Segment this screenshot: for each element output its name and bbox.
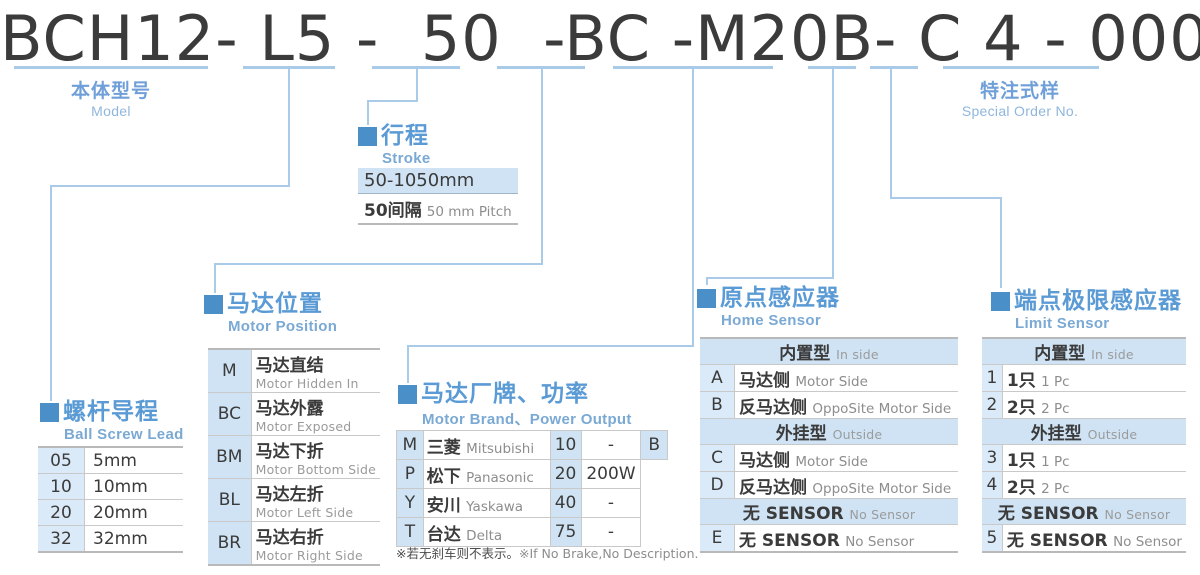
band-cn: 内置型	[779, 344, 830, 364]
power-code: 20	[550, 460, 581, 489]
band-en: No Sensor	[1105, 507, 1171, 522]
stroke-pitch-cn: 50间隔	[364, 201, 422, 221]
desc-en: Motor Right Side	[256, 548, 376, 563]
limit-sensor-desc: 1只 1 Pc	[1002, 365, 1186, 392]
group-title-en: Stroke	[382, 150, 431, 167]
limit-sensor-code: 5	[982, 525, 1002, 553]
table-row: Y 安川 Yaskawa 40 -	[397, 489, 668, 518]
bullet-square-icon	[40, 403, 59, 422]
brand-cn: 松下	[427, 467, 461, 487]
group-heading-motor-position: 马达位置 Motor Position	[204, 284, 337, 335]
section-band: 内置型 In side	[982, 338, 1186, 365]
table-row: D 反马达侧 OppoSite Motor Side	[700, 472, 958, 499]
home-sensor-table: 内置型 In side A 马达侧 Motor Side B 反马达侧 Oppo…	[700, 337, 958, 553]
desc-cn: 马达右折	[256, 523, 376, 548]
lead-code: 32	[38, 526, 85, 553]
power-value: -	[581, 489, 641, 518]
group-title-cn: 马达厂牌、功率	[421, 374, 589, 408]
brand-en: Yaskawa	[466, 499, 523, 515]
limit-sensor-desc: 2只 2 Pc	[1002, 392, 1186, 419]
underline-special-order	[943, 66, 1099, 69]
desc-en: 1 Pc	[1041, 454, 1069, 470]
desc-cn: 1只	[1007, 451, 1036, 471]
limit-sensor-desc: 1只 1 Pc	[1002, 445, 1186, 472]
table-row: C 马达侧 Motor Side	[700, 445, 958, 472]
power-code: 40	[550, 489, 581, 518]
lead-code: 20	[38, 500, 85, 526]
group-title-en: Motor Brand、Power Output	[422, 408, 632, 429]
limit-sensor-code: 3	[982, 445, 1002, 472]
connector-limit-v1	[890, 66, 892, 199]
table-row: BC 马达外露 Motor Exposed	[208, 393, 380, 436]
desc-cn: 2只	[1007, 478, 1036, 498]
desc-en: OppoSite Motor Side	[812, 401, 951, 417]
connector-brand-h	[407, 345, 694, 347]
section-band: 外挂型 Outside	[982, 419, 1186, 445]
table-row: 外挂型 Outside	[700, 419, 958, 445]
desc-cn: 无 SENSOR	[739, 531, 840, 551]
brand-code: Y	[397, 489, 424, 518]
connector-home-v1	[832, 66, 834, 278]
table-row: P 松下 Panasonic 20 200W	[397, 460, 668, 489]
limit-sensor-desc: 无 SENSOR No Sensor	[1002, 525, 1186, 553]
home-sensor-desc: 无 SENSOR No Sensor	[735, 525, 959, 553]
brake-empty	[641, 489, 668, 518]
limit-sensor-code: 2	[982, 392, 1002, 419]
desc-en: 2 Pc	[1041, 481, 1069, 497]
desc-en: Motor Hidden In	[256, 376, 376, 391]
desc-en: Motor Exposed	[256, 419, 376, 434]
desc-en: No Sensor	[1113, 534, 1182, 550]
motor-position-desc: 马达直结 Motor Hidden In	[251, 349, 380, 393]
desc-cn: 反马达侧	[739, 478, 807, 498]
home-sensor-code: A	[700, 365, 735, 392]
desc-cn: 马达侧	[739, 451, 790, 471]
band-cn: 无 SENSOR	[998, 504, 1099, 524]
diagram-canvas: BCH12- L5 - 50 -BC -M20B- C 4 - 0001 本体型…	[0, 0, 1200, 575]
group-heading-motor-brand: 马达厂牌、功率 Motor Brand、Power Output	[398, 374, 632, 429]
stroke-pitch-cell: 50间隔 50 mm Pitch	[358, 194, 518, 225]
table-row: 无 SENSOR No Sensor	[982, 499, 1186, 525]
group-title-en: Limit Sensor	[1015, 315, 1182, 332]
limit-sensor-table: 内置型 In side 1 1只 1 Pc 2 2只 2 Pc	[982, 337, 1186, 553]
home-sensor-desc: 反马达侧 OppoSite Motor Side	[735, 472, 959, 499]
connector-motorpos-h	[214, 263, 543, 265]
table-row: 3 1只 1 Pc	[982, 445, 1186, 472]
group-title-en: Ball Screw Lead	[64, 426, 184, 443]
desc-cn: 马达侧	[739, 371, 790, 391]
home-sensor-code: C	[700, 445, 735, 472]
section-band: 外挂型 Outside	[700, 419, 958, 445]
connector-lead-v1	[288, 66, 290, 186]
limit-sensor-desc: 2只 2 Pc	[1002, 472, 1186, 499]
lead-desc: 10mm	[85, 474, 184, 500]
band-en: No Sensor	[850, 507, 916, 522]
table-row: A 马达侧 Motor Side	[700, 365, 958, 392]
bullet-square-icon	[991, 292, 1010, 311]
home-sensor-code: D	[700, 472, 735, 499]
stroke-table: 50-1050mm 50间隔 50 mm Pitch	[358, 168, 518, 225]
band-en: In side	[836, 347, 879, 362]
section-band: 内置型 In side	[700, 338, 958, 365]
brake-empty	[641, 460, 668, 489]
motor-position-code: BC	[208, 393, 251, 436]
brand-en: Delta	[466, 528, 502, 544]
brand-cn: 台达	[427, 525, 461, 545]
desc-en: OppoSite Motor Side	[812, 481, 951, 497]
connector-lead-h	[50, 185, 290, 187]
lead-desc: 5mm	[85, 447, 184, 474]
group-heading-stroke: 行程 Stroke	[358, 116, 431, 167]
motor-position-desc: 马达下折 Motor Bottom Side	[251, 436, 380, 479]
lead-code: 10	[38, 474, 85, 500]
band-en: In side	[1091, 347, 1134, 362]
bullet-square-icon	[697, 289, 716, 308]
section-band: 无 SENSOR No Sensor	[982, 499, 1186, 525]
table-row: 4 2只 2 Pc	[982, 472, 1186, 499]
connector-limit-v2	[1000, 197, 1002, 288]
brand-cn: 安川	[427, 496, 461, 516]
home-sensor-desc: 反马达侧 OppoSite Motor Side	[735, 392, 959, 419]
group-title-en: Special Order No.	[930, 103, 1110, 119]
table-row: 2 2只 2 Pc	[982, 392, 1186, 419]
group-heading-ball-screw-lead: 螺杆导程 Ball Screw Lead	[40, 392, 184, 443]
desc-en: No Sensor	[845, 534, 914, 550]
part-number: BCH12- L5 - 50 -BC -M20B- C 4 - 0001	[0, 2, 1200, 75]
band-en: Outside	[833, 427, 883, 442]
brand-desc: 安川 Yaskawa	[423, 489, 550, 518]
motor-position-table: M 马达直结 Motor Hidden In BC 马达外露 Motor Exp…	[208, 348, 380, 566]
group-title-cn: 本体型号	[71, 76, 151, 103]
band-cn: 内置型	[1034, 344, 1085, 364]
limit-sensor-code: 1	[982, 365, 1002, 392]
lead-desc: 20mm	[85, 500, 184, 526]
group-heading-model: 本体型号 Model	[14, 76, 208, 119]
group-title-cn: 特注式样	[980, 76, 1060, 103]
power-code: 10	[550, 431, 581, 460]
home-sensor-desc: 马达侧 Motor Side	[735, 365, 959, 392]
connector-brand-v1	[692, 66, 694, 347]
band-cn: 无 SENSOR	[743, 504, 844, 524]
group-title-en: Home Sensor	[721, 312, 840, 329]
bullet-square-icon	[358, 127, 377, 146]
desc-en: 2 Pc	[1041, 401, 1069, 417]
table-row: M 马达直结 Motor Hidden In	[208, 349, 380, 393]
table-row: B 反马达侧 OppoSite Motor Side	[700, 392, 958, 419]
table-row: 50间隔 50 mm Pitch	[358, 194, 518, 225]
connector-motorpos-v1	[541, 66, 543, 265]
underline-model	[14, 66, 208, 69]
underline-limit-sensor	[870, 66, 918, 69]
table-row: 10 10mm	[38, 474, 183, 500]
home-sensor-code: B	[700, 392, 735, 419]
desc-cn: 马达直结	[256, 351, 376, 376]
band-cn: 外挂型	[776, 424, 827, 444]
lead-table-body: 05 5mm 10 10mm 20 20mm 32 32mm	[38, 447, 183, 552]
desc-en: Motor Side	[795, 374, 868, 390]
home-sensor-desc: 马达侧 Motor Side	[735, 445, 959, 472]
desc-cn: 马达外露	[256, 394, 376, 419]
desc-cn: 1只	[1007, 371, 1036, 391]
group-title-cn: 螺杆导程	[63, 392, 159, 426]
motor-position-desc: 马达右折 Motor Right Side	[251, 522, 380, 566]
group-title-cn: 行程	[381, 116, 429, 150]
table-row: BR 马达右折 Motor Right Side	[208, 522, 380, 566]
table-row: BM 马达下折 Motor Bottom Side	[208, 436, 380, 479]
group-heading-home-sensor: 原点感应器 Home Sensor	[697, 278, 840, 329]
group-heading-limit-sensor: 端点极限感应器 Limit Sensor	[991, 281, 1182, 332]
motor-position-desc: 马达外露 Motor Exposed	[251, 393, 380, 436]
desc-cn: 马达左折	[256, 480, 376, 505]
table-row: 1 1只 1 Pc	[982, 365, 1186, 392]
connector-stroke-v1	[416, 66, 418, 102]
motor-position-body: M 马达直结 Motor Hidden In BC 马达外露 Motor Exp…	[208, 349, 380, 565]
brand-desc: 松下 Panasonic	[423, 460, 550, 489]
desc-en: 1 Pc	[1041, 374, 1069, 390]
table-row: 32 32mm	[38, 526, 183, 553]
lead-code: 05	[38, 447, 85, 474]
home-sensor-body: 内置型 In side A 马达侧 Motor Side B 反马达侧 Oppo…	[700, 338, 958, 552]
brand-en: Mitsubishi	[466, 441, 534, 457]
band-en: Outside	[1088, 427, 1138, 442]
desc-en: Motor Bottom Side	[256, 462, 376, 477]
limit-sensor-body: 内置型 In side 1 1只 1 Pc 2 2只 2 Pc	[982, 338, 1186, 552]
power-value: 200W	[581, 460, 641, 489]
bullet-square-icon	[398, 385, 417, 404]
connector-lead-v2	[50, 185, 52, 401]
desc-cn: 无 SENSOR	[1007, 531, 1108, 551]
limit-sensor-code: 4	[982, 472, 1002, 499]
stroke-pitch-en: 50 mm Pitch	[427, 204, 512, 220]
table-row: M 三菱 Mitsubishi 10 - B	[397, 431, 668, 460]
brand-en: Panasonic	[466, 470, 534, 486]
table-row: 外挂型 Outside	[982, 419, 1186, 445]
ball-screw-lead-table: 05 5mm 10 10mm 20 20mm 32 32mm	[38, 446, 183, 553]
desc-cn: 马达下折	[256, 437, 376, 462]
table-row: 无 SENSOR No Sensor	[700, 499, 958, 525]
table-row: 20 20mm	[38, 500, 183, 526]
brand-desc: 三菱 Mitsubishi	[423, 431, 550, 460]
table-row: BL 马达左折 Motor Left Side	[208, 479, 380, 522]
table-row: E 无 SENSOR No Sensor	[700, 525, 958, 553]
home-sensor-code: E	[700, 525, 735, 553]
table-row: 5 无 SENSOR No Sensor	[982, 525, 1186, 553]
motor-position-code: BR	[208, 522, 251, 566]
motor-brand-note: ※若无刹车则不表示。※If No Brake,No Description.	[396, 543, 698, 562]
group-heading-special-order: 特注式样 Special Order No.	[930, 76, 1110, 119]
brand-cn: 三菱	[427, 438, 461, 458]
group-title-en: Motor Position	[228, 318, 337, 335]
table-row: 内置型 In side	[982, 338, 1186, 365]
lead-desc: 32mm	[85, 526, 184, 553]
connector-stroke-h	[367, 100, 418, 102]
table-row: 05 5mm	[38, 447, 183, 474]
bullet-square-icon	[204, 295, 223, 314]
motor-brand-body: M 三菱 Mitsubishi 10 - B P 松下 Panasonic 20…	[397, 431, 668, 547]
brand-code: M	[397, 431, 424, 460]
note-cn: ※若无刹车则不表示。	[396, 546, 519, 561]
desc-en: Motor Left Side	[256, 505, 376, 520]
brand-code: P	[397, 460, 424, 489]
connector-limit-h	[890, 197, 1002, 199]
desc-cn: 反马达侧	[739, 398, 807, 418]
motor-position-code: BL	[208, 479, 251, 522]
motor-brand-table: M 三菱 Mitsubishi 10 - B P 松下 Panasonic 20…	[396, 430, 668, 547]
group-title-en: Model	[14, 103, 208, 119]
group-title-cn: 端点极限感应器	[1014, 281, 1182, 315]
note-en: ※If No Brake,No Description.	[519, 546, 698, 561]
section-band: 无 SENSOR No Sensor	[700, 499, 958, 525]
table-row: 内置型 In side	[700, 338, 958, 365]
stroke-range-cell: 50-1050mm	[358, 168, 518, 194]
table-row: 50-1050mm	[358, 168, 518, 194]
group-title-cn: 马达位置	[227, 284, 323, 318]
desc-en: Motor Side	[795, 454, 868, 470]
motor-position-code: BM	[208, 436, 251, 479]
motor-position-code: M	[208, 349, 251, 393]
band-cn: 外挂型	[1031, 424, 1082, 444]
power-value: -	[581, 431, 641, 460]
brake-code: B	[641, 431, 668, 460]
group-title-cn: 原点感应器	[720, 278, 840, 312]
desc-cn: 2只	[1007, 398, 1036, 418]
motor-position-desc: 马达左折 Motor Left Side	[251, 479, 380, 522]
